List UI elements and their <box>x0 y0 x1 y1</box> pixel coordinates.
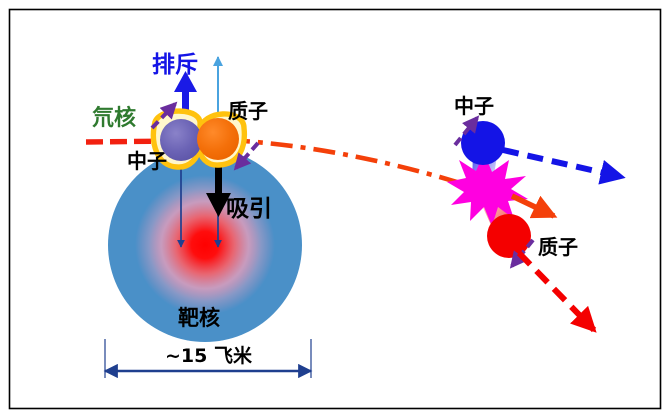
label-target-nucleus: 靶核 <box>178 306 220 330</box>
label-neutron-left: 中子 <box>127 149 167 173</box>
label-proton-left: 质子 <box>228 99 268 123</box>
figure-frame: 氘核 排斥 吸引 质子 中子 中子 质子 靶核 ~15 飞米 <box>0 0 670 418</box>
deuteron-proton <box>197 118 239 160</box>
label-proton-right: 质子 <box>538 235 578 259</box>
label-deuteron: 氘核 <box>92 105 136 131</box>
label-repulsion: 排斥 <box>152 52 198 78</box>
label-dimension: ~15 飞米 <box>165 344 253 367</box>
figure-border <box>10 10 661 409</box>
label-attraction: 吸引 <box>226 196 272 222</box>
label-neutron-right: 中子 <box>454 94 494 118</box>
diagram-canvas: 氘核 排斥 吸引 质子 中子 中子 质子 靶核 ~15 飞米 <box>0 0 670 418</box>
